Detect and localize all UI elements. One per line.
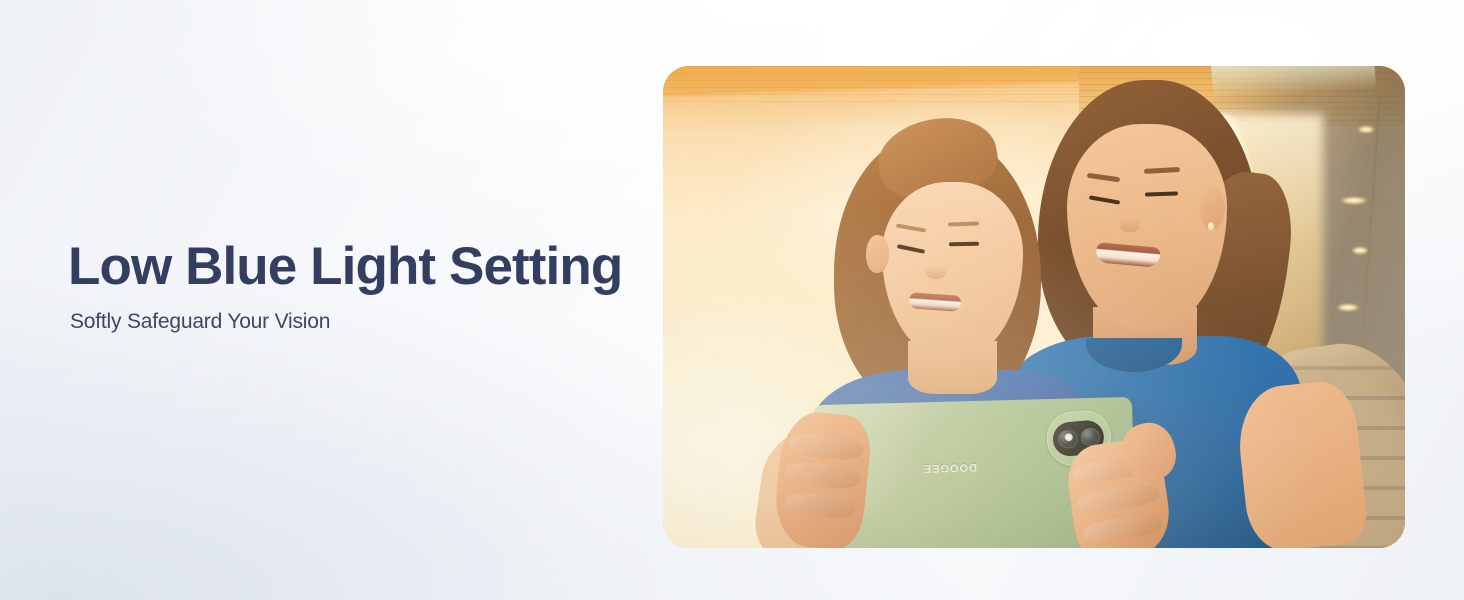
fairy-light-bulb: [1341, 197, 1367, 204]
fairy-light-bulb: [1352, 247, 1368, 254]
older-girl-earring: [1208, 222, 1214, 231]
fairy-light-bulb: [1337, 304, 1359, 311]
doogee-logo: DOOGEE: [923, 461, 978, 474]
lifestyle-photo: DOOGEE: [663, 66, 1405, 548]
photo-scene: DOOGEE: [663, 66, 1405, 548]
low-blue-light-banner: Low Blue Light Setting Softly Safeguard …: [0, 0, 1464, 600]
finger: [788, 431, 865, 462]
older-girl-arm: [1234, 378, 1369, 548]
finger: [785, 460, 862, 491]
older-girl-nose: [1120, 218, 1139, 232]
marketing-copy-block: Low Blue Light Setting Softly Safeguard …: [68, 238, 648, 335]
finger: [783, 490, 856, 520]
page-title: Low Blue Light Setting: [68, 238, 648, 295]
fairy-light-bulb: [1358, 126, 1374, 133]
finger: [1076, 483, 1161, 515]
younger-girl-ear: [866, 235, 888, 274]
page-subtitle: Softly Safeguard Your Vision: [70, 309, 648, 335]
younger-girl-nose: [926, 266, 947, 279]
finger: [1082, 513, 1163, 545]
